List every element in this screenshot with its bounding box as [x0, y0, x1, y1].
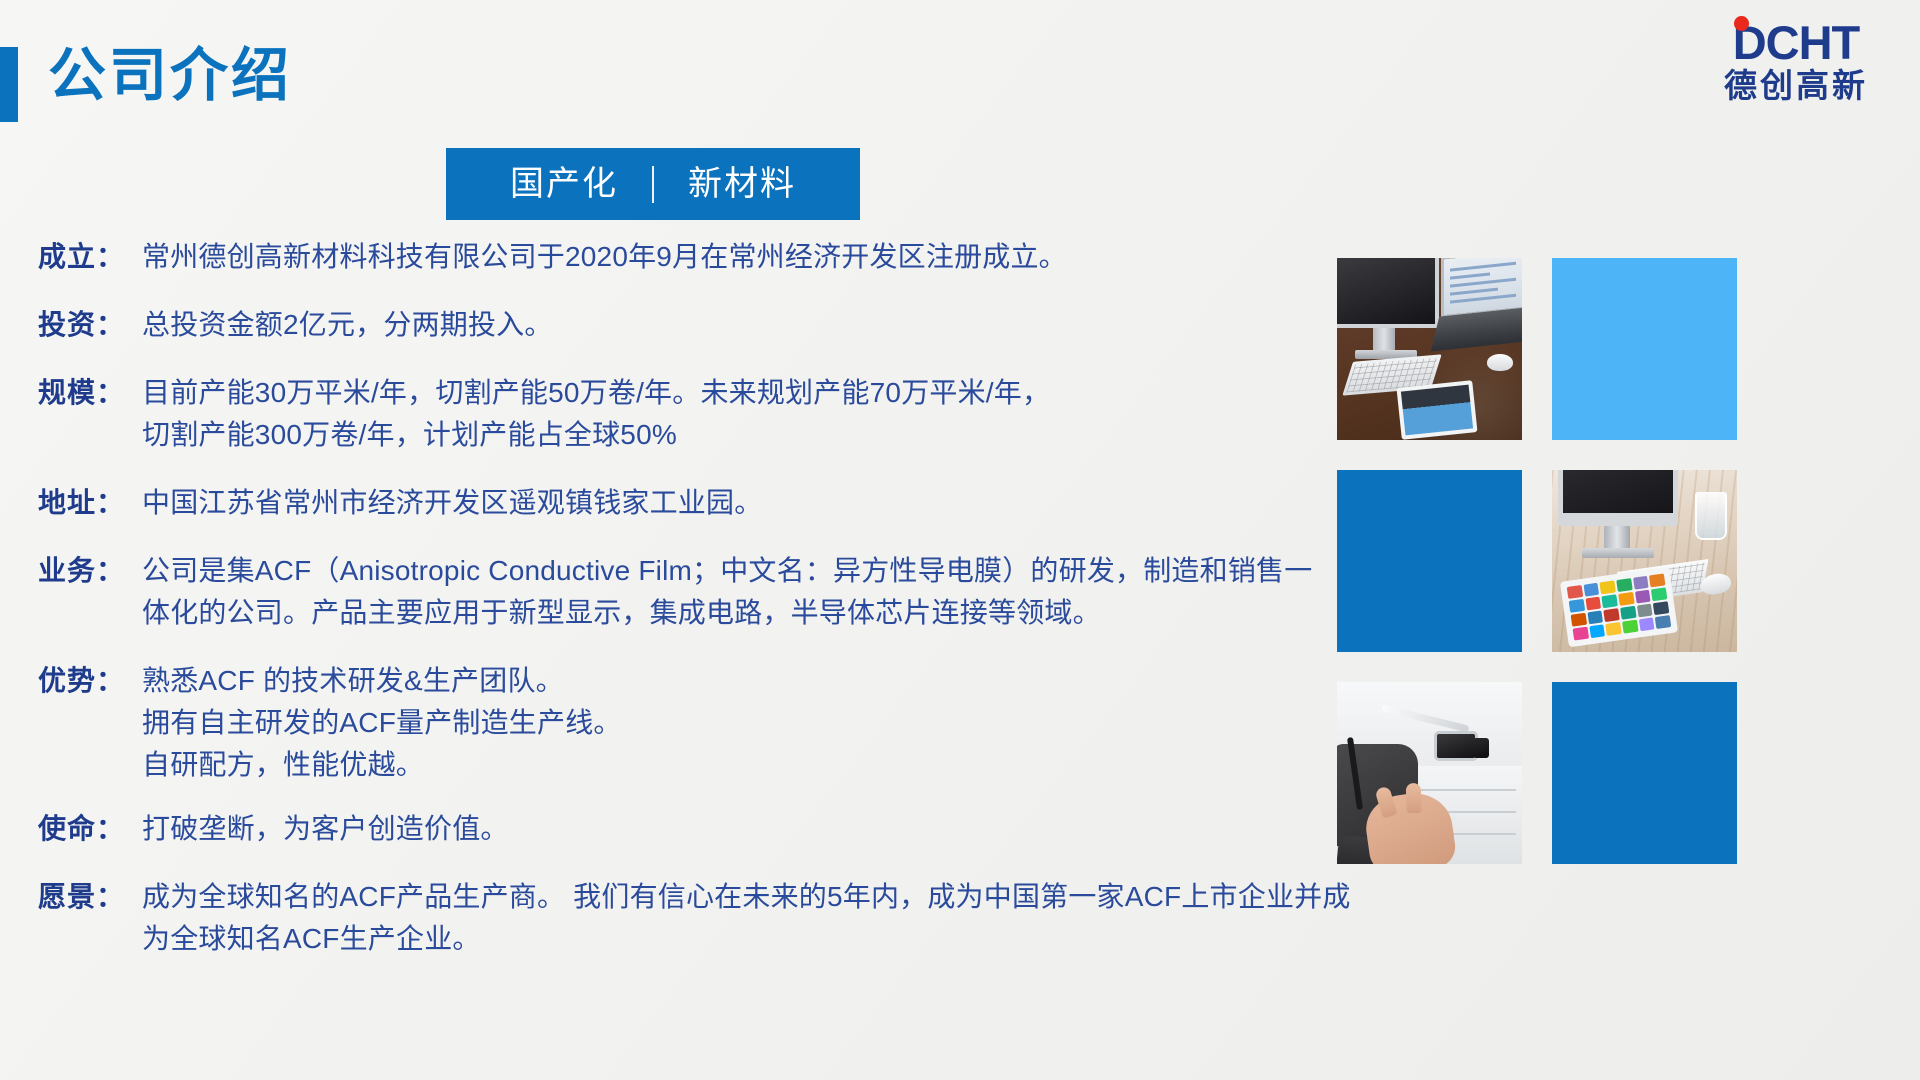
tablet-app-grid: [1567, 573, 1672, 640]
info-row: 优势： 熟悉ACF 的技术研发&生产团队。 拥有自主研发的ACF量产制造生产线。…: [38, 660, 1338, 786]
info-body: 熟悉ACF 的技术研发&生产团队。 拥有自主研发的ACF量产制造生产线。 自研配…: [142, 660, 1338, 786]
info-row: 使命： 打破垄断，为客户创造价值。: [38, 808, 1338, 850]
info-label: 优势：: [38, 660, 142, 702]
info-row: 愿景： 成为全球知名的ACF产品生产商。 我们有信心在未来的5年内，成为中国第一…: [38, 876, 1338, 960]
info-line: 目前产能30万平米/年，切割产能50万卷/年。未来规划产能70万平米/年，: [142, 372, 1338, 414]
info-row: 业务： 公司是集ACF（Anisotropic Conductive Film；…: [38, 550, 1338, 634]
image-grid: [1337, 258, 1737, 864]
info-line: 体化的公司。产品主要应用于新型显示，集成电路，半导体芯片连接等领域。: [142, 592, 1338, 634]
info-body: 成为全球知名的ACF产品生产商。 我们有信心在未来的5年内，成为中国第一家ACF…: [142, 876, 1351, 960]
info-label: 愿景：: [38, 876, 142, 918]
imac-tablet-glass-desk-photo: [1552, 470, 1737, 652]
info-line: 公司是集ACF（Anisotropic Conductive Film；中文名：…: [142, 550, 1338, 592]
tagline-separator-icon: [652, 166, 654, 203]
info-row: 投资： 总投资金额2亿元，分两期投入。: [38, 304, 1338, 346]
logo-chinese-name: 德创高新: [1724, 69, 1868, 102]
dark-blue-block: [1552, 682, 1737, 864]
info-line: 自研配方，性能优越。: [142, 744, 1338, 786]
info-row: 地址： 中国江苏省常州市经济开发区遥观镇钱家工业园。: [38, 482, 1338, 524]
tagline-badge: 国产化 新材料: [446, 148, 860, 220]
title-accent-bar: [0, 47, 18, 122]
info-label: 业务：: [38, 550, 142, 592]
info-body: 常州德创高新材料科技有限公司于2020年9月在常州经济开发区注册成立。: [142, 236, 1338, 278]
info-line: 切割产能300万卷/年，计划产能占全球50%: [142, 414, 1338, 456]
info-line: 为全球知名ACF生产企业。: [142, 918, 1351, 960]
imac-base-icon: [1582, 548, 1654, 558]
imac-stand-icon: [1604, 526, 1630, 550]
info-body: 总投资金额2亿元，分两期投入。: [142, 304, 1338, 346]
light-blue-block: [1552, 258, 1737, 440]
logo-wordmark-text: DCHT: [1733, 16, 1860, 69]
info-row: 成立： 常州德创高新材料科技有限公司于2020年9月在常州经济开发区注册成立。: [38, 236, 1338, 278]
tagline-left: 国产化: [510, 167, 618, 201]
page-title: 公司介绍: [48, 41, 292, 111]
info-label: 投资：: [38, 304, 142, 346]
info-row: 规模： 目前产能30万平米/年，切割产能50万卷/年。未来规划产能70万平米/年…: [38, 372, 1338, 456]
info-line: 中国江苏省常州市经济开发区遥观镇钱家工业园。: [142, 482, 1338, 524]
info-body: 目前产能30万平米/年，切割产能50万卷/年。未来规划产能70万平米/年， 切割…: [142, 372, 1338, 456]
info-line: 拥有自主研发的ACF量产制造生产线。: [142, 702, 1338, 744]
info-label: 成立：: [38, 236, 142, 278]
info-line: 常州德创高新材料科技有限公司于2020年9月在常州经济开发区注册成立。: [142, 236, 1338, 278]
equipment-head-icon: [1434, 731, 1478, 761]
info-label: 规模：: [38, 372, 142, 414]
imac-laptop-tablet-desk-photo: [1337, 258, 1522, 440]
medical-equipment-hand-photo: [1337, 682, 1522, 864]
info-line: 熟悉ACF 的技术研发&生产团队。: [142, 660, 1338, 702]
info-body: 打破垄断，为客户创造价值。: [142, 808, 1338, 850]
info-line: 成为全球知名的ACF产品生产商。 我们有信心在未来的5年内，成为中国第一家ACF…: [142, 876, 1351, 918]
tablet-icon: [1396, 380, 1477, 440]
water-glass-icon: [1695, 492, 1727, 540]
tagline-right: 新材料: [688, 167, 796, 201]
logo-wordmark: DCHT: [1733, 19, 1860, 66]
info-body: 公司是集ACF（Anisotropic Conductive Film；中文名：…: [142, 550, 1338, 634]
company-logo: DCHT 德创高新: [1696, 8, 1896, 112]
imac-screen-icon: [1558, 470, 1678, 526]
logo-red-dot-icon: [1734, 16, 1749, 31]
dark-blue-block: [1337, 470, 1522, 652]
info-body: 中国江苏省常州市经济开发区遥观镇钱家工业园。: [142, 482, 1338, 524]
info-line: 总投资金额2亿元，分两期投入。: [142, 304, 1338, 346]
info-line: 打破垄断，为客户创造价值。: [142, 808, 1338, 850]
mouse-icon: [1487, 354, 1513, 371]
info-label: 使命：: [38, 808, 142, 850]
imac-screen-icon: [1337, 258, 1439, 328]
info-label: 地址：: [38, 482, 142, 524]
slide: 公司介绍 DCHT 德创高新 国产化 新材料 成立： 常州德创高新材料科技有限公…: [0, 0, 1920, 1080]
company-info-list: 成立： 常州德创高新材料科技有限公司于2020年9月在常州经济开发区注册成立。 …: [38, 236, 1338, 960]
